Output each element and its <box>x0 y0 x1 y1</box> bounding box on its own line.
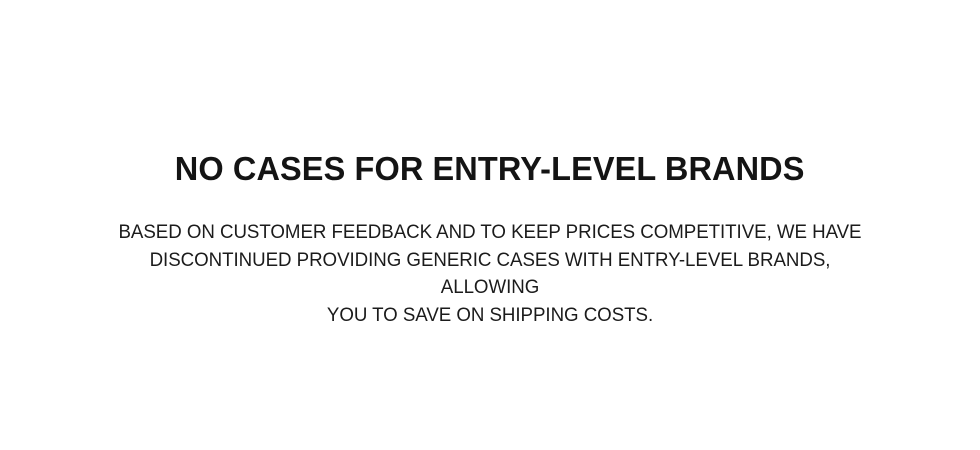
notice-description: BASED ON CUSTOMER FEEDBACK AND TO KEEP P… <box>106 189 874 330</box>
notice-description-line: BASED ON CUSTOMER FEEDBACK AND TO KEEP P… <box>106 219 874 247</box>
page-title: NO CASES FOR ENTRY-LEVEL BRANDS <box>175 150 805 189</box>
notice-content-block: NO CASES FOR ENTRY-LEVEL BRANDS BASED ON… <box>40 150 940 330</box>
notice-description-line: YOU TO SAVE ON SHIPPING COSTS. <box>106 302 874 330</box>
notice-banner: NO CASES FOR ENTRY-LEVEL BRANDS BASED ON… <box>0 0 980 450</box>
notice-description-line: DISCONTINUED PROVIDING GENERIC CASES WIT… <box>106 247 874 302</box>
